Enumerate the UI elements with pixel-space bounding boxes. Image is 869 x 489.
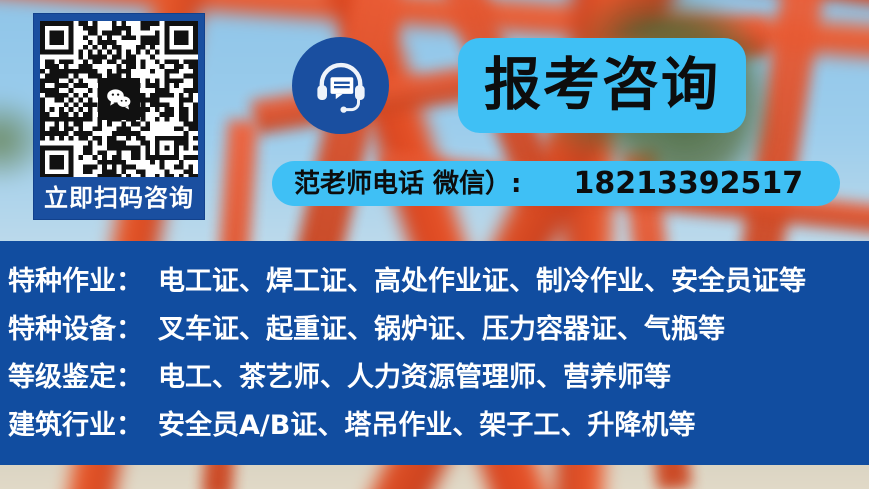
qr-code-image[interactable] [40, 21, 198, 177]
services-row-value: 电工证、焊工证、高处作业证、制冷作业、安全员证等 [158, 259, 806, 298]
services-row-key: 等级鉴定： [8, 355, 158, 394]
services-row-value: 安全员A/B证、塔吊作业、架子工、升降机等 [158, 403, 695, 442]
wechat-icon [98, 78, 140, 120]
page-title: 报考咨询 [484, 57, 720, 114]
qr-caption: 立即扫码咨询 [44, 177, 194, 219]
services-row-value: 电工、茶艺师、人力资源管理师、营养师等 [158, 355, 671, 394]
services-row-key: 特种设备： [8, 307, 158, 346]
qr-panel[interactable]: 立即扫码咨询 [33, 13, 205, 220]
services-row-key: 建筑行业： [8, 403, 158, 442]
services-row-value: 叉车证、起重证、锅炉证、压力容器证、气瓶等 [158, 307, 725, 346]
services-row: 特种设备： 叉车证、起重证、锅炉证、压力容器证、气瓶等 [8, 307, 869, 355]
services-row-key: 特种作业： [8, 259, 158, 298]
services-panel: 特种作业： 电工证、焊工证、高处作业证、制冷作业、安全员证等 特种设备： 叉车证… [0, 241, 869, 465]
promo-poster: 立即扫码咨询 报考咨询 范老师电话 微信）: 18213392517 特种作业：… [0, 0, 869, 489]
services-row: 特种作业： 电工证、焊工证、高处作业证、制冷作业、安全员证等 [8, 259, 869, 307]
headset-support-icon [292, 37, 389, 134]
contact-phone-number[interactable]: 18213392517 [573, 169, 803, 199]
contact-banner[interactable]: 范老师电话 微信）: 18213392517 [272, 161, 840, 206]
services-row: 等级鉴定： 电工、茶艺师、人力资源管理师、营养师等 [8, 355, 869, 403]
contact-label: 范老师电话 微信）: [294, 171, 521, 197]
services-row: 建筑行业： 安全员A/B证、塔吊作业、架子工、升降机等 [8, 403, 869, 451]
title-banner: 报考咨询 [458, 38, 746, 133]
